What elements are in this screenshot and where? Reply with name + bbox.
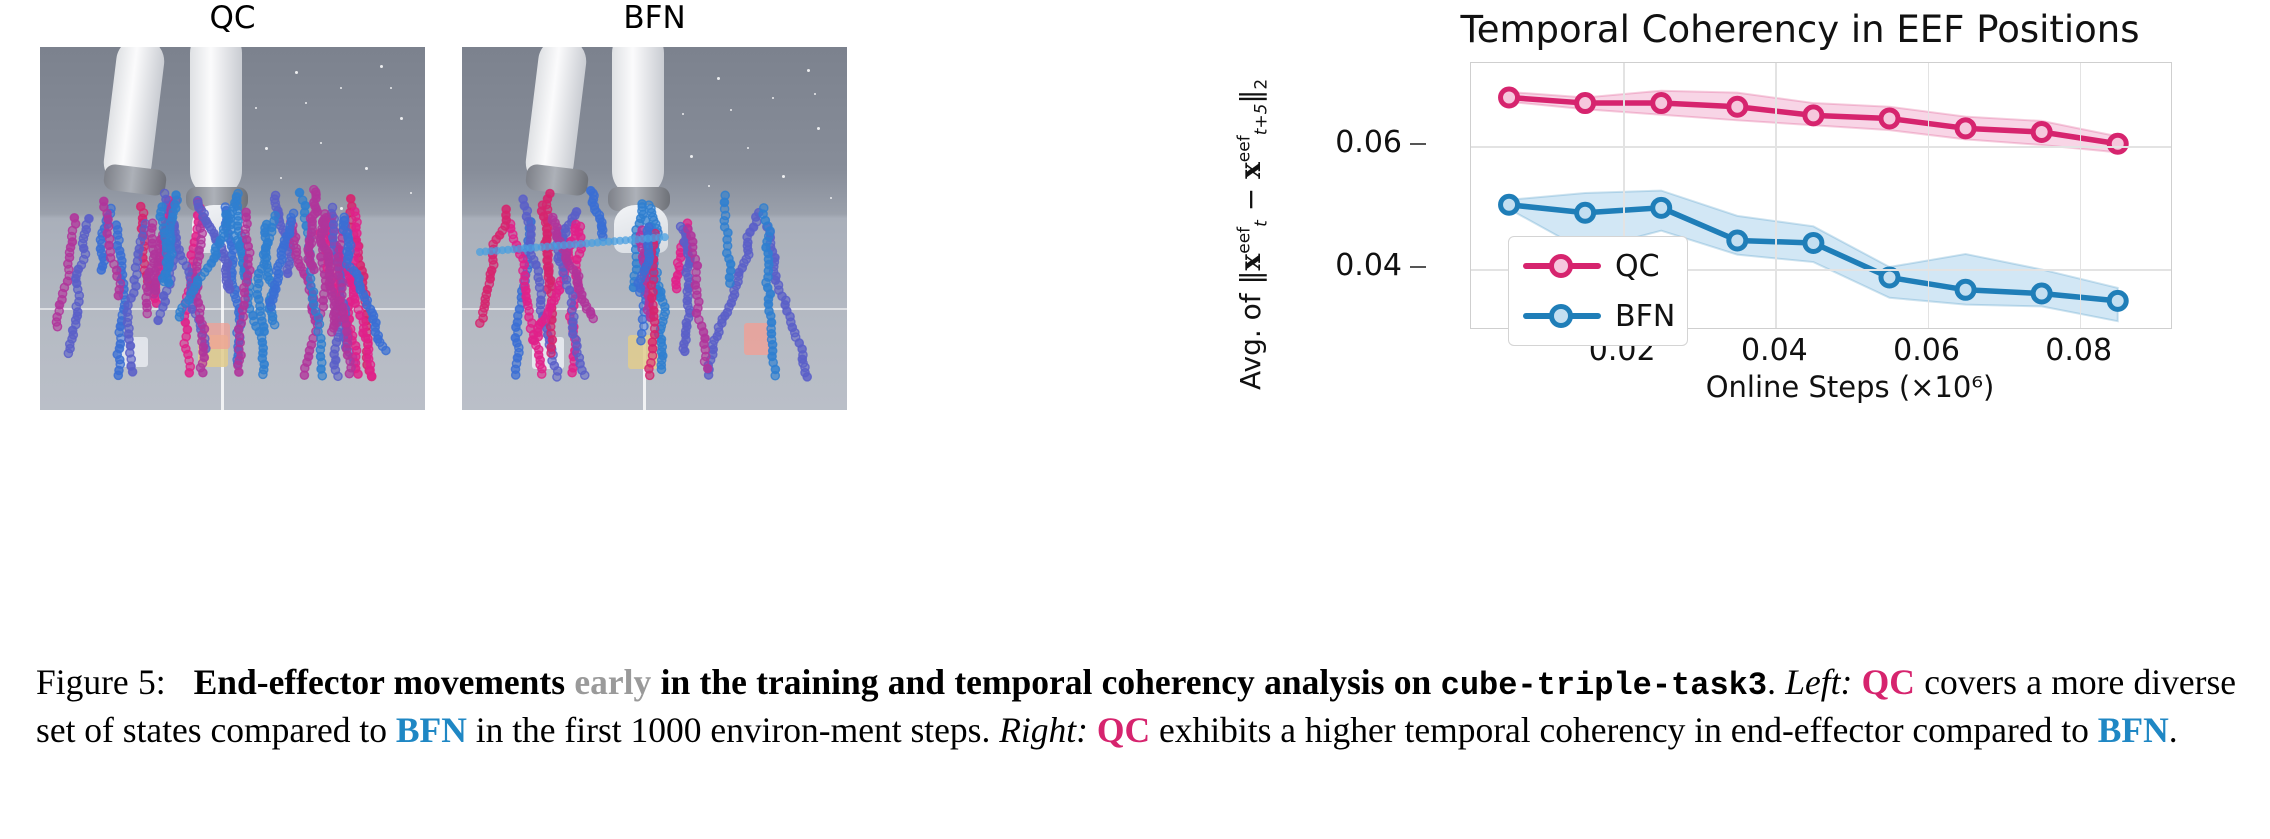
legend-label-qc: QC [1615, 249, 1660, 284]
trajectory-point [673, 285, 681, 293]
data-point-bfn[interactable] [1653, 199, 1670, 216]
caption-text-2: in the first 1000 environ-ment steps. [476, 710, 991, 750]
caption-right-italic: Right: [999, 710, 1088, 750]
caption-bold-2: in the training and temporal coherency a… [661, 662, 1432, 702]
trajectory-point [160, 278, 168, 286]
trajectory-point [553, 373, 561, 381]
caption-early: early [574, 662, 651, 702]
caption-bold-1: End-effector movements [194, 662, 565, 702]
gridline-vertical [1775, 63, 1777, 328]
figure-row: QC [0, 0, 2270, 640]
x-tick-label: 0.04 [1741, 333, 1808, 368]
trajectory-point [226, 285, 234, 293]
trajectory-point [704, 364, 712, 372]
trajectory-point [382, 346, 390, 354]
trajectory-point [354, 370, 362, 378]
trajectory-point [267, 303, 275, 311]
ylabel-prefix: Avg. of ‖ [1234, 270, 1267, 390]
trajectory-point [345, 370, 353, 378]
trajectory-point [114, 371, 122, 379]
caption-bfn-1: BFN [396, 710, 467, 750]
data-point-bfn[interactable] [1805, 234, 1822, 251]
caption-left-italic: Left: [1785, 662, 1852, 702]
caption-qc-1: QC [1862, 662, 1915, 702]
data-point-bfn[interactable] [1729, 232, 1746, 249]
trajectory-point [318, 372, 326, 380]
trajectory-point [97, 266, 105, 274]
trajectory-point [681, 347, 689, 355]
trajectory-point [185, 369, 193, 377]
ylabel-x1: x [1234, 254, 1267, 271]
chart-y-axis-label: Avg. of ‖xeeft − xeeft+5‖2 [1234, 90, 1272, 390]
ylabel-minus: − [1234, 179, 1267, 220]
figure-caption: Figure 5: End-effector movements early i… [36, 660, 2236, 753]
data-point-qc[interactable] [1653, 95, 1670, 112]
y-tick-label: 0.06 [1335, 125, 1426, 160]
trajectory-point [235, 368, 243, 376]
y-tick-label: 0.04 [1335, 248, 1426, 283]
ylabel-suffix-sub: 2 [1252, 79, 1272, 90]
trajectory-point [259, 370, 267, 378]
ylabel-x1-sup: eef [1235, 227, 1255, 254]
panel-bfn: BFN [462, 0, 847, 420]
legend-item-bfn[interactable]: BFN [1519, 293, 1679, 337]
chart-x-axis-label: Online Steps (×10⁶) [1430, 370, 2270, 404]
trajectory-point [271, 321, 279, 329]
ylabel-x2-sub: t+5 [1252, 104, 1272, 136]
data-point-qc[interactable] [1577, 95, 1594, 112]
gridline-vertical [1928, 63, 1930, 328]
caption-qc-2: QC [1097, 710, 1150, 750]
data-point-qc[interactable] [1881, 110, 1898, 127]
trajectory-point [64, 349, 72, 357]
trajectory-point [114, 292, 122, 300]
trajectory-point [771, 372, 779, 380]
trajectory-point [657, 365, 665, 373]
trajectory-point [803, 373, 811, 381]
trajectory-point [128, 368, 136, 376]
ylabel-x1-sub: t [1252, 220, 1272, 227]
data-point-qc[interactable] [1501, 89, 1518, 106]
trajectory-point [143, 309, 151, 317]
trajectory-point [175, 313, 183, 321]
trajectory-point [154, 316, 162, 324]
data-point-bfn[interactable] [1577, 204, 1594, 221]
trajectory-point [538, 370, 546, 378]
trajectory-point [334, 372, 342, 380]
panel-bfn-title: BFN [462, 0, 847, 36]
data-point-qc[interactable] [1957, 120, 1974, 137]
chart-legend: QC BFN [1508, 236, 1688, 346]
x-tick-label: 0.06 [1893, 333, 1960, 368]
caption-period-1: . [1767, 662, 1776, 702]
trajectory-point [568, 369, 576, 377]
panel-qc-title: QC [40, 0, 425, 36]
legend-marker-bfn [1549, 304, 1573, 328]
trajectory-point [636, 288, 644, 296]
trajectory-point [367, 372, 375, 380]
data-point-bfn[interactable] [1881, 269, 1898, 286]
caption-label: Figure 5: [36, 662, 166, 702]
caption-text-3: exhibits a higher temporal coherency in … [1159, 710, 2089, 750]
trajectory-point [656, 293, 664, 301]
data-point-bfn[interactable] [1957, 281, 1974, 298]
trajectory-point [726, 279, 734, 287]
legend-label-bfn: BFN [1615, 299, 1675, 334]
temporal-coherency-chart: Temporal Coherency in EEF Positions Avg.… [1330, 0, 2270, 640]
legend-item-qc[interactable]: QC [1519, 243, 1679, 287]
gridline-vertical [2080, 63, 2082, 328]
data-point-bfn[interactable] [2033, 285, 2050, 302]
x-tick-label: 0.08 [2045, 333, 2112, 368]
trajectory-point [328, 328, 336, 336]
trajectory-point [260, 327, 268, 335]
trajectory-point [581, 371, 589, 379]
ylabel-x2-sup: eef [1235, 135, 1255, 162]
bfn-trajectory-overlay [462, 47, 847, 410]
qc-trajectory-overlay [40, 47, 425, 410]
caption-task: cube-triple-task3 [1441, 667, 1767, 704]
trajectory-point [512, 371, 520, 379]
trajectory-point [646, 371, 654, 379]
trajectory-point [547, 349, 555, 357]
data-point-qc[interactable] [1729, 98, 1746, 115]
data-point-bfn[interactable] [2109, 292, 2126, 309]
gridline-horizontal [1471, 146, 2171, 148]
trajectory-point [300, 371, 308, 379]
data-point-qc[interactable] [2109, 135, 2126, 152]
trajectory-point [53, 323, 61, 331]
trajectory-point [661, 233, 669, 241]
trajectory-point [476, 319, 484, 327]
chart-title: Temporal Coherency in EEF Positions [1330, 8, 2270, 51]
caption-bfn-2: BFN [2098, 710, 2169, 750]
data-point-qc[interactable] [2033, 124, 2050, 141]
trajectory-point [637, 337, 645, 345]
trajectory-point [530, 337, 538, 345]
data-point-bfn[interactable] [1501, 196, 1518, 213]
data-point-qc[interactable] [1805, 107, 1822, 124]
ylabel-suffix: ‖ [1234, 90, 1267, 104]
trajectory-point [589, 314, 597, 322]
legend-marker-qc [1549, 254, 1573, 278]
trajectory-point [199, 369, 207, 377]
trajectory-point [284, 269, 292, 277]
trajectory-point [310, 265, 318, 273]
ylabel-x2: x [1234, 162, 1267, 179]
caption-period-2: . [2169, 710, 2178, 750]
panel-qc: QC [40, 0, 425, 420]
